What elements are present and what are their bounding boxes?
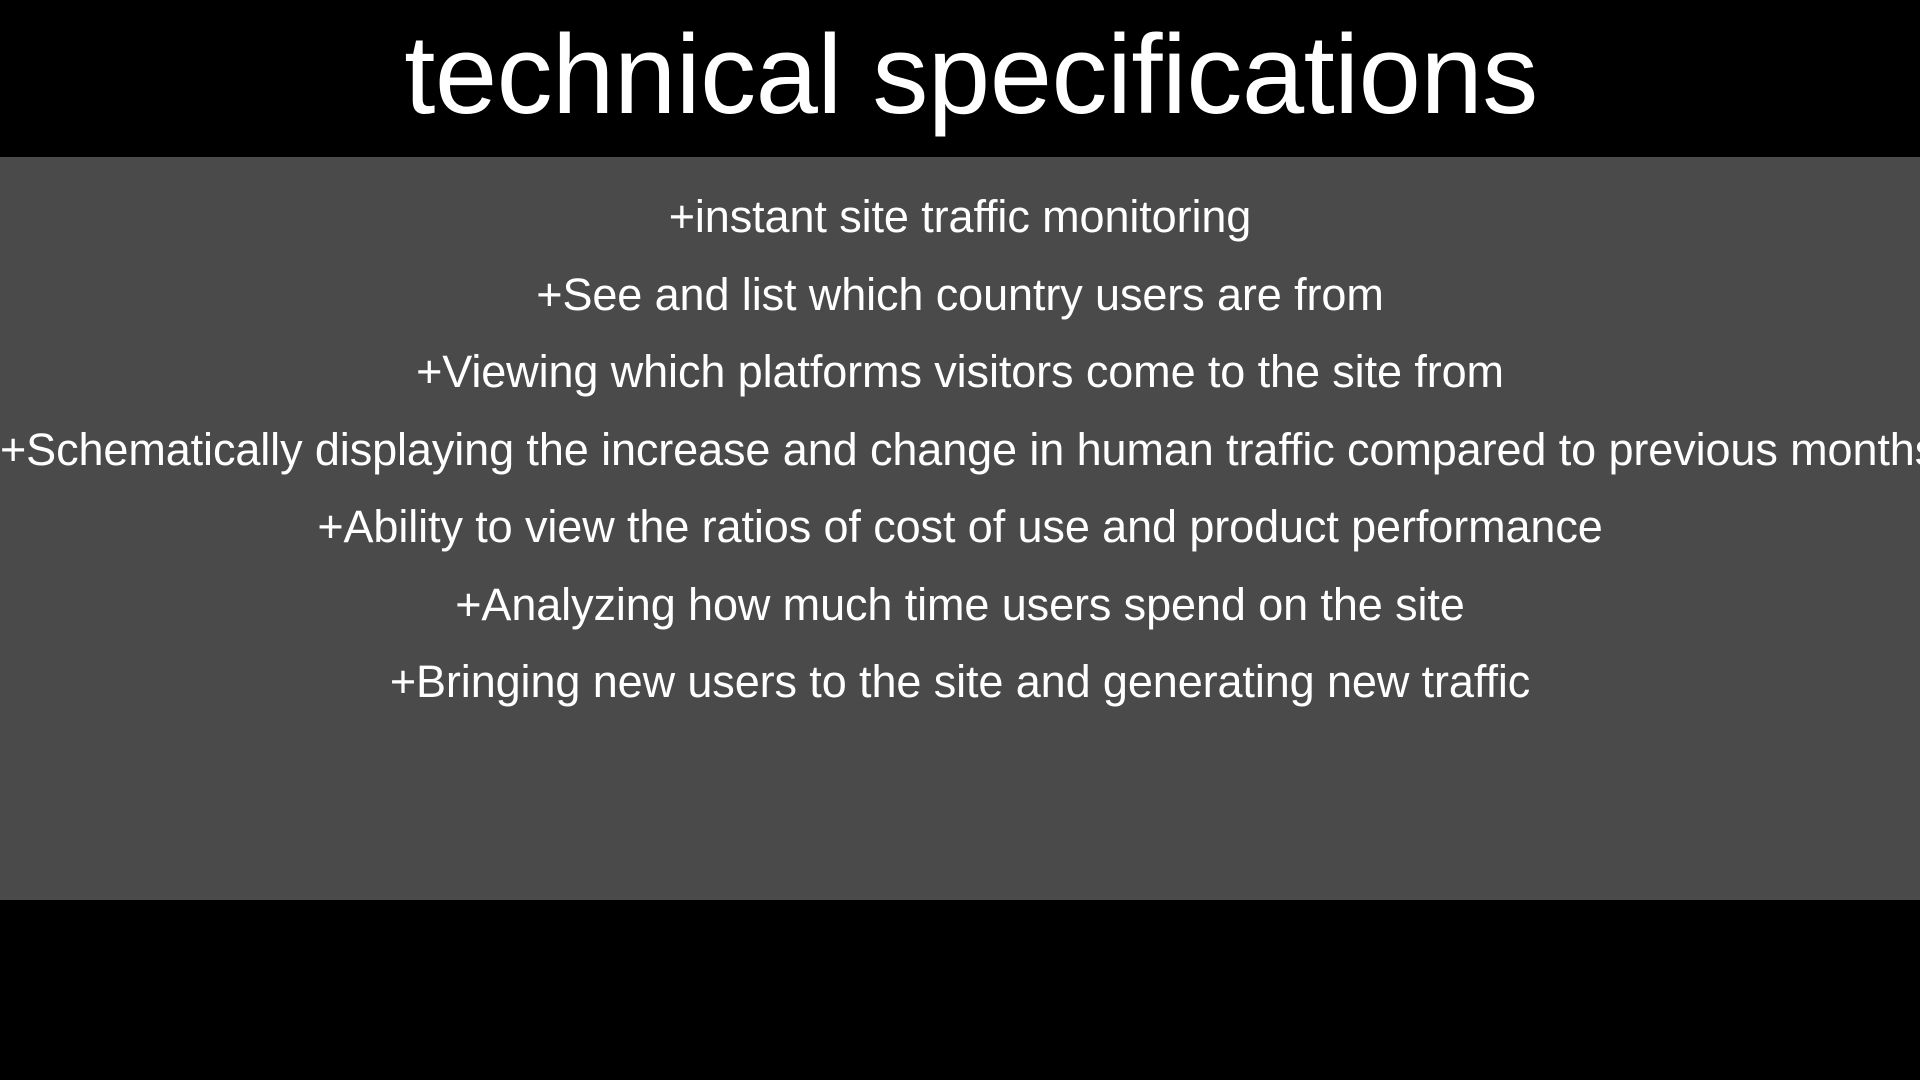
feature-bullet-list: +instant site traffic monitoring +See an… bbox=[0, 178, 1920, 721]
slide-title-band: technical specifications bbox=[0, 0, 1920, 157]
list-item: +Viewing which platforms visitors come t… bbox=[0, 333, 1920, 411]
list-item: +See and list which country users are fr… bbox=[0, 256, 1920, 334]
slide-content-panel: +instant site traffic monitoring +See an… bbox=[0, 157, 1920, 900]
list-item: +Ability to view the ratios of cost of u… bbox=[0, 488, 1920, 566]
list-item: +instant site traffic monitoring bbox=[0, 178, 1920, 256]
presentation-slide: technical specifications +instant site t… bbox=[0, 0, 1920, 1080]
list-item: +Analyzing how much time users spend on … bbox=[0, 566, 1920, 644]
page-title: technical specifications bbox=[0, 0, 1920, 150]
slide-bottom-band bbox=[0, 900, 1920, 1080]
list-item: +Bringing new users to the site and gene… bbox=[0, 643, 1920, 721]
list-item: +Schematically displaying the increase a… bbox=[0, 411, 1920, 489]
